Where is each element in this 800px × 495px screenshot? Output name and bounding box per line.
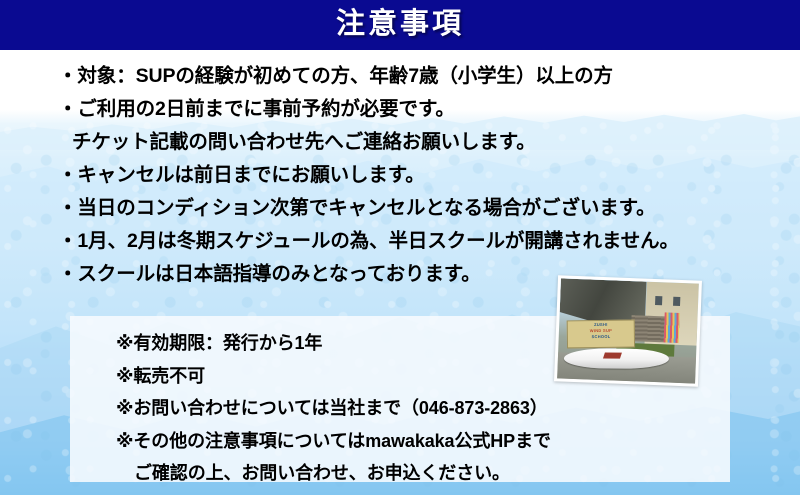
notice-poster: 注意事項 ・対象：SUPの経験が初めての方、年齢7歳（小学生）以上の方 ・ご利用… xyxy=(0,0,800,495)
asterisk-note-item: ※お問い合わせについては当社まで（046-873-2863） xyxy=(116,392,716,425)
notice-bullet-item: ・当日のコンディション次第でキャンセルとなる場合がございます。 xyxy=(58,192,758,225)
photo-school-sign: ZUSHI WIND SUP SCHOOL xyxy=(567,320,636,349)
photo-sup-board xyxy=(563,348,668,368)
notice-bullet-item: ・ご利用の2日前までに事前予約が必要です。 xyxy=(58,93,758,126)
photo-building-window xyxy=(655,296,662,305)
notice-bullet-item: ・1月、2月は冬期スケジュールの為、半日スクールが開講されません。 xyxy=(58,225,758,258)
photo-board-rack xyxy=(663,312,679,343)
photo-sup-board-stripe xyxy=(602,352,621,358)
notice-bullet-item: ・対象：SUPの経験が初めての方、年齢7歳（小学生）以上の方 xyxy=(58,60,758,93)
photo-sign-line-3: SCHOOL xyxy=(568,333,634,340)
asterisk-note-continuation: ご確認の上、お問い合わせ、お申込ください。 xyxy=(116,457,716,490)
school-photo-image: ZUSHI WIND SUP SCHOOL xyxy=(557,278,699,383)
notice-bullet-continuation: チケット記載の問い合わせ先へご連絡お願いします。 xyxy=(58,126,758,159)
notice-bullet-list: ・対象：SUPの経験が初めての方、年齢7歳（小学生）以上の方 ・ご利用の2日前ま… xyxy=(58,60,758,291)
photo-building-window xyxy=(673,296,680,305)
asterisk-note-item: ※その他の注意事項についてはmawakaka公式HPまで xyxy=(116,425,716,458)
school-photo: ZUSHI WIND SUP SCHOOL xyxy=(554,275,702,386)
page-title: 注意事項 xyxy=(0,0,800,50)
notice-bullet-item: ・キャンセルは前日までにお願いします。 xyxy=(58,159,758,192)
